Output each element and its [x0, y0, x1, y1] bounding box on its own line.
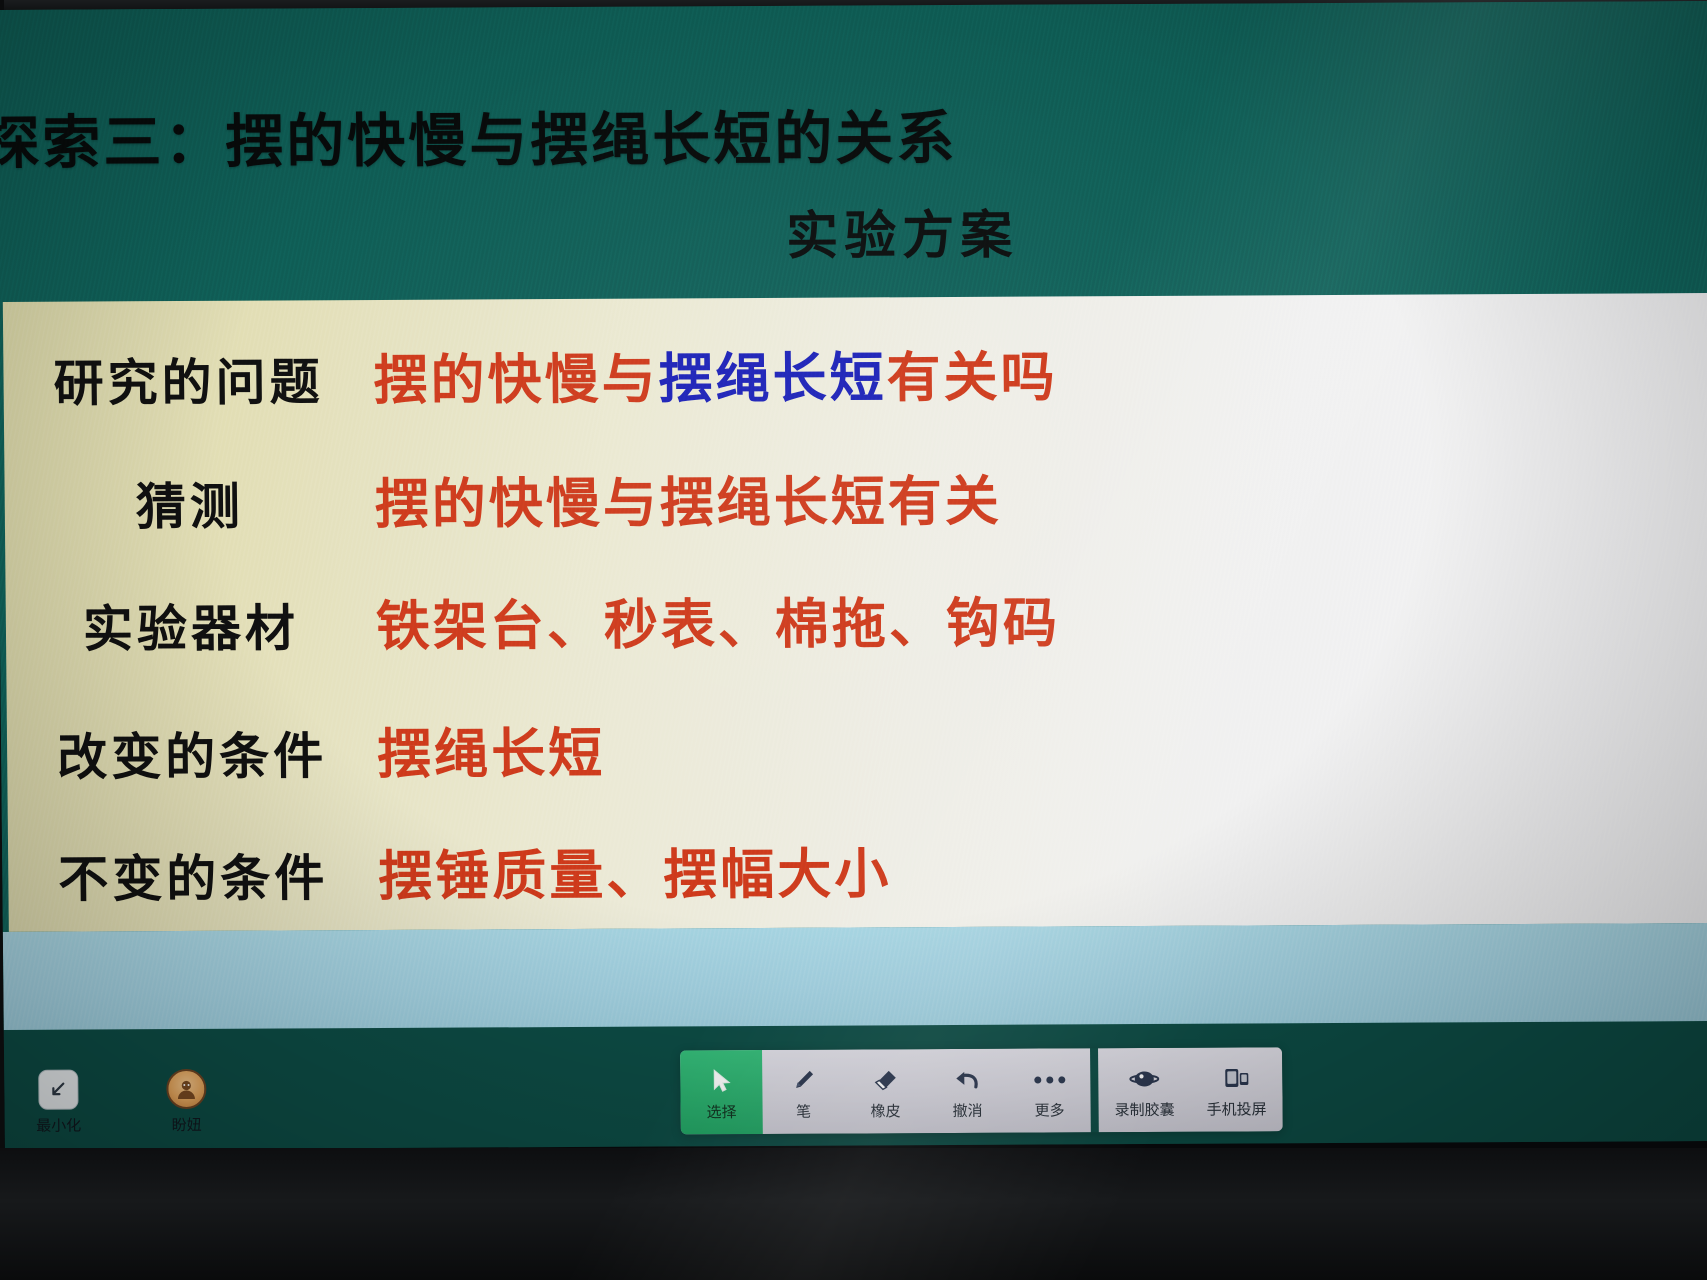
- taskbar-item-label: 盼妞: [172, 1114, 202, 1135]
- table-row: 改变的条件 摆绳长短: [7, 703, 1707, 791]
- phone-cast-icon: [1221, 1063, 1251, 1093]
- row-label: 研究的问题: [3, 342, 374, 416]
- row-value: 摆锤质量、摆幅大小: [378, 825, 1707, 911]
- user-avatar-icon: [166, 1069, 206, 1109]
- tool-more-button[interactable]: 更多: [1008, 1048, 1091, 1132]
- utility-label: 录制胶囊: [1114, 1099, 1174, 1120]
- record-capsule-icon: [1129, 1064, 1159, 1094]
- slide-header: 探索三：摆的快慢与摆绳长短的关系 实验方案: [0, 1, 1707, 302]
- tool-label: 笔: [796, 1101, 811, 1122]
- table-row: 研究的问题 摆的快慢与摆绳长短有关吗: [3, 329, 1707, 417]
- annotation-tool-group: 选择 笔: [680, 1048, 1091, 1134]
- row-value-segment-highlight: 摆绳长短: [658, 348, 887, 409]
- slide-footer-band: [3, 923, 1707, 1030]
- tool-label: 选择: [706, 1101, 736, 1122]
- row-value: 摆的快慢与摆绳长短有关吗: [373, 329, 1707, 415]
- taskbar: 最小化 盼妞: [12, 1069, 233, 1136]
- table-row: 实验器材 铁架台、秒表、棉拖、钩码: [6, 575, 1707, 663]
- row-label: 猜测: [4, 466, 375, 540]
- undo-icon: [953, 1065, 981, 1095]
- record-capsule-button[interactable]: 录制胶囊: [1098, 1048, 1191, 1132]
- eraser-icon: [871, 1065, 899, 1095]
- row-value-segment: 摆的快慢与: [373, 350, 659, 411]
- bezel-bottom: hp: [0, 1148, 1707, 1280]
- tool-label: 橡皮: [870, 1100, 900, 1121]
- row-label: 改变的条件: [7, 716, 378, 790]
- more-dots-icon: [1034, 1064, 1065, 1094]
- minimize-arrow-icon: [38, 1070, 78, 1110]
- row-value-segment: 有关吗: [886, 347, 1058, 408]
- pen-icon: [790, 1066, 816, 1096]
- phone-cast-button[interactable]: 手机投屏: [1190, 1047, 1283, 1131]
- utility-label: 手机投屏: [1206, 1098, 1266, 1119]
- tool-select-button[interactable]: 选择: [680, 1050, 763, 1134]
- cursor-icon: [709, 1066, 733, 1096]
- annotation-utility-group: 录制胶囊 手机投屏: [1098, 1047, 1283, 1132]
- tool-pen-button[interactable]: 笔: [762, 1050, 845, 1134]
- row-label: 实验器材: [6, 588, 377, 662]
- row-value: 摆绳长短: [377, 703, 1707, 789]
- taskbar-item-label: 最小化: [36, 1115, 81, 1136]
- row-label: 不变的条件: [8, 838, 379, 912]
- row-value: 摆的快慢与摆绳长短有关: [374, 453, 1707, 539]
- screen: 探索三：摆的快慢与摆绳长短的关系 实验方案 研究的问题 摆的快慢与摆绳长短有关吗…: [0, 1, 1707, 1150]
- table-row: 猜测 摆的快慢与摆绳长短有关: [4, 453, 1707, 541]
- table-row: 不变的条件 摆锤质量、摆幅大小: [8, 825, 1707, 913]
- row-value: 铁架台、秒表、棉拖、钩码: [376, 575, 1707, 661]
- slide-body: 研究的问题 摆的快慢与摆绳长短有关吗 猜测 摆的快慢与摆绳长短有关 实验器材 铁…: [3, 293, 1707, 932]
- tool-eraser-button[interactable]: 橡皮: [844, 1049, 927, 1133]
- annotation-toolbar: 选择 笔: [680, 1047, 1283, 1134]
- tool-label: 更多: [1034, 1099, 1064, 1120]
- monitor-photo: 探索三：摆的快慢与摆绳长短的关系 实验方案 研究的问题 摆的快慢与摆绳长短有关吗…: [0, 0, 1707, 1280]
- taskbar-item-user[interactable]: 盼妞: [140, 1069, 233, 1135]
- tool-label: 撤消: [952, 1100, 982, 1121]
- presentation-slide: 探索三：摆的快慢与摆绳长短的关系 实验方案 研究的问题 摆的快慢与摆绳长短有关吗…: [0, 1, 1707, 1030]
- slide-subtitle: 实验方案: [786, 193, 1019, 269]
- tool-undo-button[interactable]: 撤消: [926, 1049, 1009, 1133]
- taskbar-item-minimize[interactable]: 最小化: [12, 1069, 105, 1135]
- slide-title: 探索三：摆的快慢与摆绳长短的关系: [0, 89, 1282, 180]
